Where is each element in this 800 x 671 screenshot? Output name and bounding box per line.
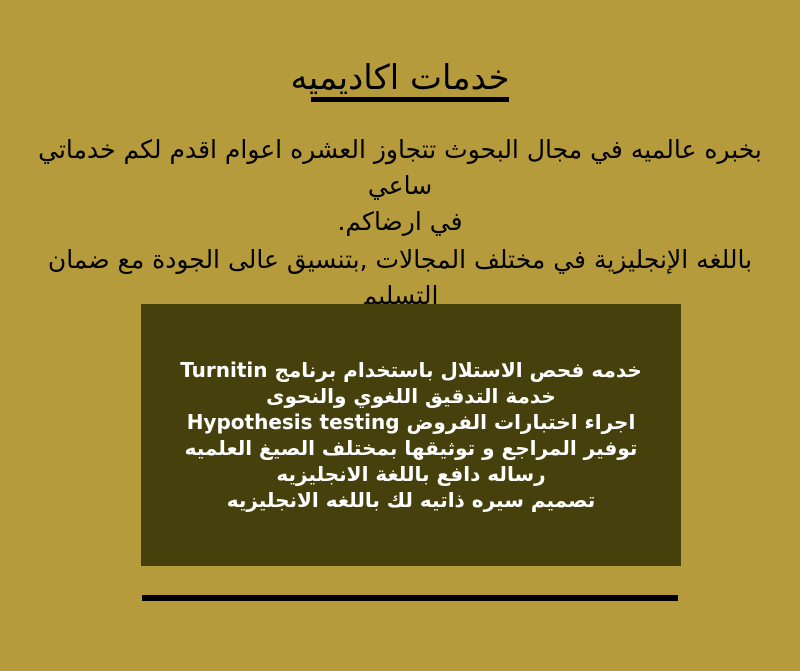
list-item: توفير المراجع و توثيقها بمختلف الصيغ الع…	[151, 435, 671, 461]
page-title: خدمات اكاديميه	[0, 56, 800, 100]
slide-canvas: خدمات اكاديميه بخبره عالميه في مجال البح…	[0, 0, 800, 671]
page-title-text: خدمات اكاديميه	[291, 56, 510, 100]
services-panel: خدمه فحص الاستلال باستخدام برنامج Turnit…	[141, 304, 681, 566]
list-item: اجراء اختبارات الفروض Hypothesis testing	[151, 409, 671, 435]
title-underline-rule	[311, 97, 509, 102]
list-item: رساله دافع باللغة الانجليزيه	[151, 461, 671, 487]
bottom-divider-rule	[142, 595, 678, 601]
intro-paragraph-1: بخبره عالميه في مجال البحوث تتجاوز العشر…	[6, 132, 794, 240]
list-item: خدمه فحص الاستلال باستخدام برنامج Turnit…	[151, 357, 671, 383]
list-item: خدمة التدقيق اللغوي والنحوى	[151, 383, 671, 409]
services-list: خدمه فحص الاستلال باستخدام برنامج Turnit…	[141, 357, 681, 513]
list-item: تصميم سيره ذاتيه لك باللغه الانجليزيه	[151, 487, 671, 513]
